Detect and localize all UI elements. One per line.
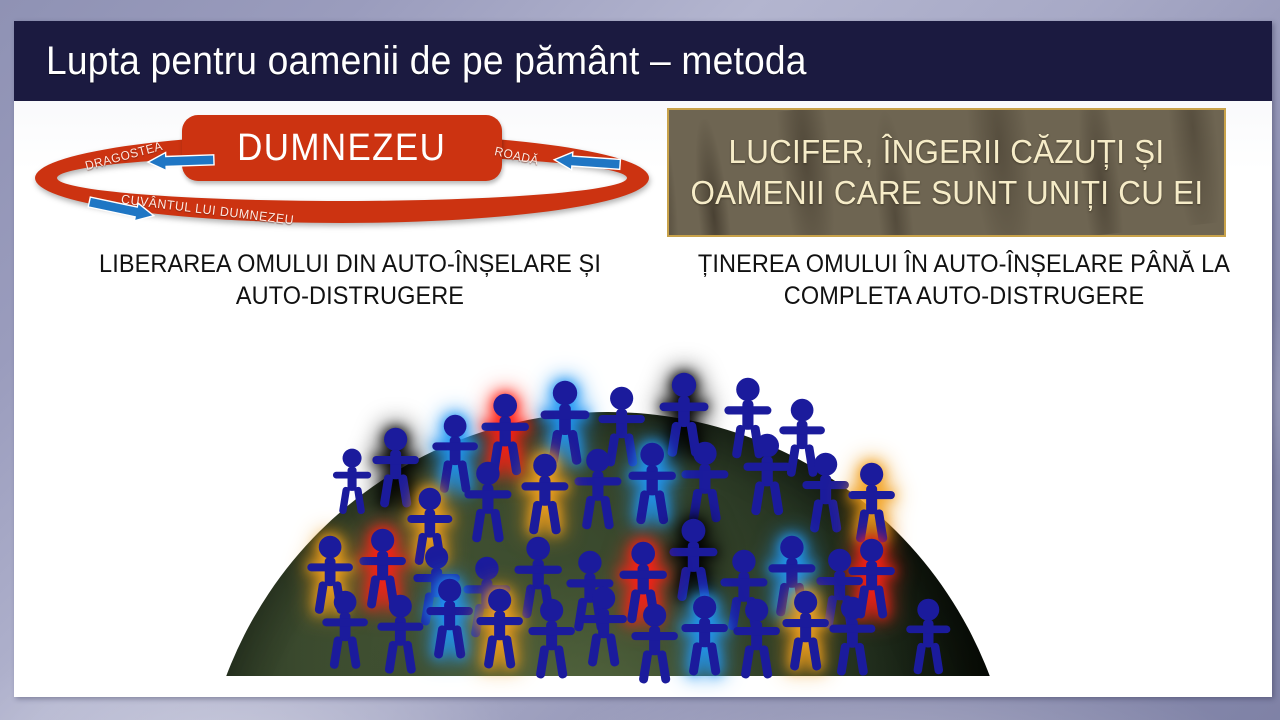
stick-figure — [578, 586, 629, 668]
stick-figure — [679, 441, 731, 524]
stick-figure — [800, 452, 851, 534]
caption-left-line-2: AUTO-DISTRUGERE — [59, 280, 642, 312]
stick-figure — [572, 448, 624, 531]
stick-figure — [629, 603, 680, 685]
stick-figure — [731, 598, 782, 680]
stick-figure — [331, 448, 373, 515]
god-cycle-diagram: DUMNEZEU DRAGOSTEA ROADĂ CUVÂNTUL LUI DU… — [26, 113, 656, 237]
arrow-left-icon — [144, 150, 217, 177]
stick-figure — [462, 461, 514, 544]
stick-figure — [904, 598, 953, 675]
stick-figure — [375, 594, 426, 675]
lucifer-text-box: LUCIFER, ÎNGERII CĂZUȚI ȘI OAMENII CARE … — [667, 108, 1226, 237]
caption-right: ȚINEREA OMULUI ÎN AUTO-ÎNȘELARE PÂNĂ LA … — [664, 248, 1264, 312]
stick-figure — [741, 433, 793, 516]
caption-right-line-2: COMPLETA AUTO-DISTRUGERE — [682, 280, 1246, 312]
stick-figure — [424, 578, 475, 660]
slide-viewport: Lupta pentru oamenii de pe pământ – meto… — [0, 0, 1280, 720]
stick-figure — [626, 442, 678, 525]
stick-figure — [526, 598, 577, 680]
lucifer-line-2: OAMENII CARE SUNT UNIȚI CU EI — [690, 173, 1203, 213]
stick-figure — [827, 596, 878, 677]
arrow-left-icon — [549, 150, 623, 180]
caption-left: LIBERAREA OMULUI DIN AUTO-ÎNȘELARE ȘI AU… — [40, 248, 660, 312]
stick-figure — [519, 453, 571, 536]
stick-figure — [667, 518, 720, 602]
stick-figure — [846, 462, 897, 544]
page-title: Lupta pentru oamenii de pe pământ – meto… — [46, 39, 807, 84]
dumnezeu-box: DUMNEZEU — [182, 115, 502, 181]
slide-title-bar: Lupta pentru oamenii de pe pământ – meto… — [14, 21, 1272, 101]
stick-figure — [320, 590, 370, 670]
stick-figure — [679, 595, 730, 677]
caption-left-line-1: LIBERAREA OMULUI DIN AUTO-ÎNȘELARE ȘI — [59, 248, 642, 280]
caption-right-line-1: ȚINEREA OMULUI ÎN AUTO-ÎNȘELARE PÂNĂ LA — [682, 248, 1246, 280]
dumnezeu-label: DUMNEZEU — [237, 127, 446, 170]
lucifer-line-1: LUCIFER, ÎNGERII CĂZUȚI ȘI — [729, 132, 1165, 172]
stick-figure — [474, 588, 525, 670]
stick-figure — [780, 590, 831, 672]
